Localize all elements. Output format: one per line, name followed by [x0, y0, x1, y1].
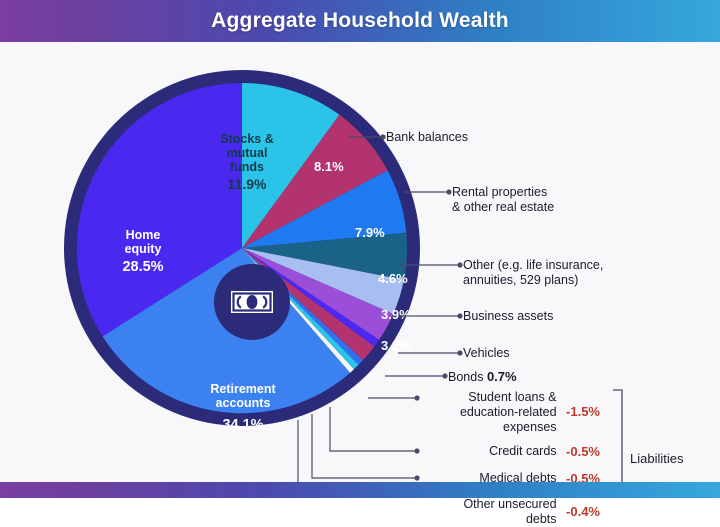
callout-vehicles-label: Vehicles — [463, 346, 510, 360]
callout-bonds: Bonds 0.7% — [448, 369, 517, 385]
liability-credit-cards: Credit cards -0.5% — [420, 444, 600, 459]
liability-student-line1: Student loans & — [468, 390, 556, 404]
liability-unsecured-value: -0.4% — [566, 504, 600, 519]
liability-credit-value: -0.5% — [566, 444, 600, 459]
liabilities-bracket — [613, 390, 622, 482]
callout-other-insurance: Other (e.g. life insurance, annuities, 5… — [463, 258, 633, 288]
liabilities-group-label: Liabilities — [630, 451, 683, 466]
callout-bank-balances: Bank balances — [386, 130, 468, 145]
callout-rental-line1: Rental properties — [452, 185, 602, 200]
callout-other-line1: Other (e.g. life insurance, — [463, 258, 633, 273]
callout-business-assets: Business assets — [463, 309, 553, 324]
liability-credit-label: Credit cards — [449, 444, 557, 459]
infographic-root: Aggregate Household Wealth — [0, 0, 720, 498]
page-title: Aggregate Household Wealth — [0, 0, 720, 42]
liability-student-line3: expenses — [503, 420, 557, 434]
callout-other-line2: annuities, 529 plans) — [463, 273, 633, 288]
liability-student-value: -1.5% — [566, 404, 600, 419]
money-banknote-icon — [230, 290, 274, 314]
callout-bonds-value: 0.7% — [487, 369, 517, 384]
callout-bank-label: Bank balances — [386, 130, 468, 144]
liability-student-text: Student loans & education-related expens… — [447, 390, 557, 434]
liability-student-loans: Student loans & education-related expens… — [420, 390, 600, 434]
pie-svg — [62, 50, 422, 460]
callout-rental-properties: Rental properties & other real estate — [452, 185, 602, 215]
pie-chart — [62, 50, 422, 460]
liability-other-unsecured: Other unsecured debts -0.4% — [404, 497, 600, 527]
center-badge — [214, 264, 290, 340]
callout-bonds-label: Bonds — [448, 370, 483, 384]
liability-unsecured-label: Other unsecured debts — [433, 497, 557, 527]
callout-vehicles: Vehicles — [463, 346, 510, 361]
footer-bar — [0, 482, 720, 498]
chart-canvas: Stocks & mutual funds 11.9% Home equity … — [0, 42, 720, 482]
liability-student-line2: education-related — [460, 405, 557, 419]
callout-rental-line2: & other real estate — [452, 200, 602, 215]
callout-business-label: Business assets — [463, 309, 553, 323]
